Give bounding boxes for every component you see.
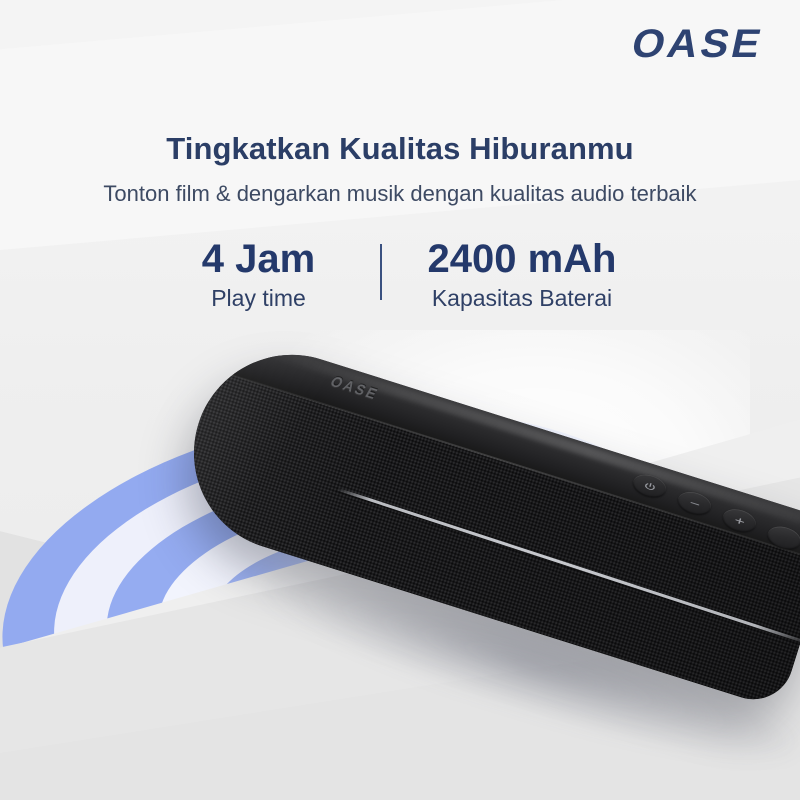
spec-battery-label: Kapasitas Baterai — [428, 285, 617, 312]
spec-playtime-value: 4 Jam — [184, 238, 334, 281]
spec-playtime: 4 Jam Play time — [138, 238, 380, 312]
power-icon — [642, 480, 657, 492]
product-promo-banner: OASE — [0, 0, 800, 800]
spec-playtime-label: Play time — [184, 285, 334, 312]
volume-down-button[interactable] — [675, 488, 714, 518]
page-title: Tingkatkan Kualitas Hiburanmu — [0, 131, 800, 167]
brand-logo: OASE — [628, 24, 767, 64]
spec-battery: 2400 mAh Kapasitas Baterai — [382, 238, 663, 312]
page-subtitle: Tonton film & dengarkan musik dengan kua… — [0, 181, 800, 207]
plus-icon — [732, 515, 747, 527]
spec-battery-value: 2400 mAh — [428, 238, 617, 281]
spec-highlights: 4 Jam Play time 2400 mAh Kapasitas Bater… — [0, 238, 800, 312]
minus-icon — [687, 497, 702, 509]
volume-up-button[interactable] — [720, 505, 759, 535]
power-button[interactable] — [630, 471, 669, 501]
